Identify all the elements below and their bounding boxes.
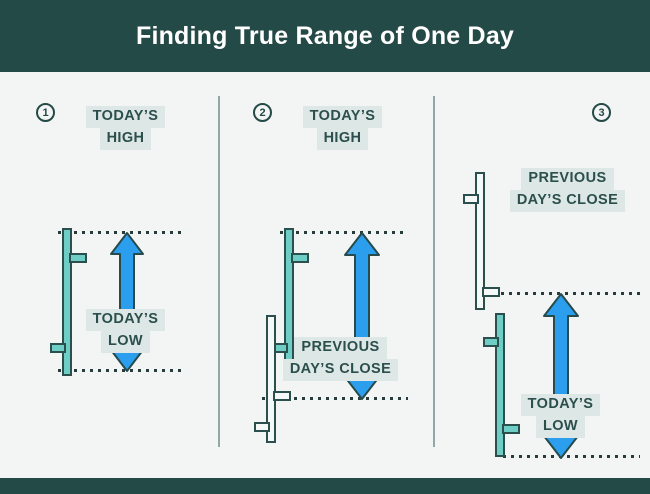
infographic-root: Finding True Range of One Day 1 TODAY’S … [0,0,650,494]
panel-3-label-previous-close-line1: PREVIOUS [521,168,613,190]
panel-1: 1 TODAY’S HIGH TODAY’S LOW [0,72,218,478]
panel-2-number-badge: 2 [253,103,272,122]
panel-2-label-previous-close-line1: PREVIOUS [294,337,386,359]
panel-2-label-todays-high: TODAY’S HIGH [295,106,390,150]
panel-1-label-todays-low: TODAY’S LOW [78,309,173,353]
footer-bar [0,478,650,494]
panel-3-previous-day-bar [463,170,503,312]
panel-3-number-text: 3 [598,107,604,119]
panel-2: 2 TODAY’S HIGH [220,72,434,478]
panel-3-label-todays-low-line1: TODAY’S [521,394,601,416]
panel-3-label-todays-low: TODAY’S LOW [513,394,608,438]
panel-1-number-badge: 1 [36,103,55,122]
panel-1-label-todays-low-line2: LOW [101,331,150,353]
panel-3-label-todays-low-line2: LOW [536,416,585,438]
panel-3-number-badge: 3 [592,103,611,122]
panel-2-number-text: 2 [259,107,265,119]
panel-1-label-todays-high-line1: TODAY’S [86,106,166,128]
panel-1-todays-bar [50,226,90,378]
panel-2-label-previous-close-line2: DAY’S CLOSE [283,359,398,381]
panel-1-label-todays-low-line1: TODAY’S [86,309,166,331]
panel-1-number-text: 1 [42,107,48,119]
panel-3: 3 PREVIOUS DAY’S CLOSE [435,72,650,478]
page-title: Finding True Range of One Day [0,0,650,72]
panel-2-label-todays-high-line1: TODAY’S [303,106,383,128]
panel-1-label-todays-high-line2: HIGH [100,128,152,150]
panel-2-label-previous-close: PREVIOUS DAY’S CLOSE [273,337,408,381]
panel-3-label-previous-close-line2: DAY’S CLOSE [510,190,625,212]
panel-3-label-previous-close: PREVIOUS DAY’S CLOSE [500,168,635,212]
panel-1-label-todays-high: TODAY’S HIGH [78,106,173,150]
panel-2-label-todays-high-line2: HIGH [317,128,369,150]
